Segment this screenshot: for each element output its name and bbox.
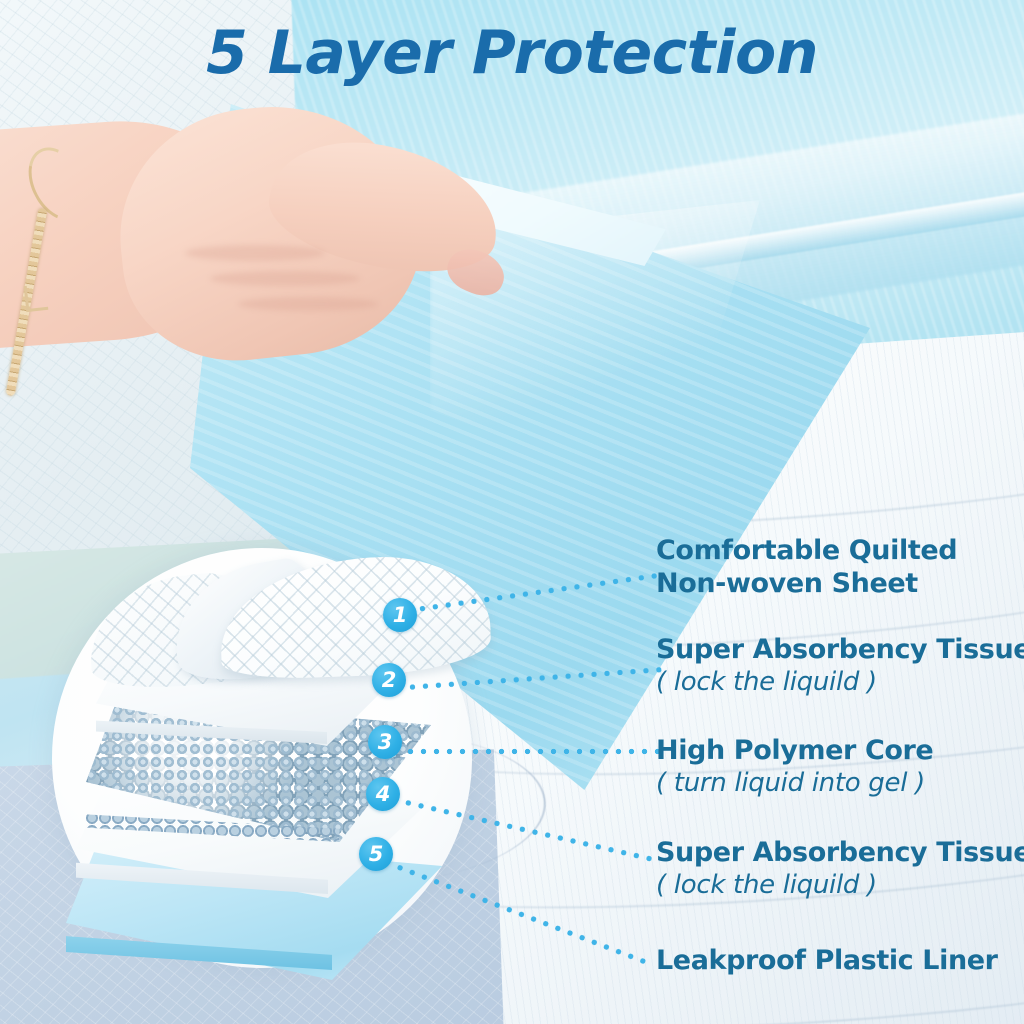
layer-label-1-line1: Comfortable Quilted: [656, 535, 957, 568]
layer-label-3-sub: ( turn liquid into gel ): [656, 768, 933, 800]
layer-label-1-line2: Non-woven Sheet: [656, 568, 957, 601]
layer-label-2: Super Absorbency Tissue ( lock the liqui…: [656, 634, 1024, 699]
layer-label-4-sub: ( lock the liquild ): [656, 870, 1024, 902]
layer-badge-1: 1: [383, 598, 417, 632]
layer-label-4-line1: Super Absorbency Tissue: [656, 837, 1024, 870]
layer-badge-3: 3: [368, 725, 402, 759]
layer-label-5: Leakproof Plastic Liner: [656, 945, 998, 978]
page-title: 5 Layer Protection: [0, 18, 1024, 88]
layer-label-2-line1: Super Absorbency Tissue: [656, 634, 1024, 667]
layer-label-3: High Polymer Core ( turn liquid into gel…: [656, 735, 933, 800]
bracelet-charm: [24, 284, 49, 312]
hand-holding-pad: [0, 95, 490, 425]
layer-label-4: Super Absorbency Tissue ( lock the liqui…: [656, 837, 1024, 902]
infographic-canvas: 5 Layer Protection 1 2 3 4 5 Comfortable…: [0, 0, 1024, 1024]
leader-line-3: [404, 748, 662, 755]
layer-badge-2: 2: [372, 663, 406, 697]
layer-badge-4: 4: [366, 777, 400, 811]
layer-stack-illustration: [52, 530, 512, 990]
layer-label-3-line1: High Polymer Core: [656, 735, 933, 768]
layer-badge-5: 5: [359, 837, 393, 871]
layer-label-1: Comfortable Quilted Non-woven Sheet: [656, 535, 957, 601]
layer-label-2-sub: ( lock the liquild ): [656, 667, 1024, 699]
layer-label-5-line1: Leakproof Plastic Liner: [656, 945, 998, 978]
